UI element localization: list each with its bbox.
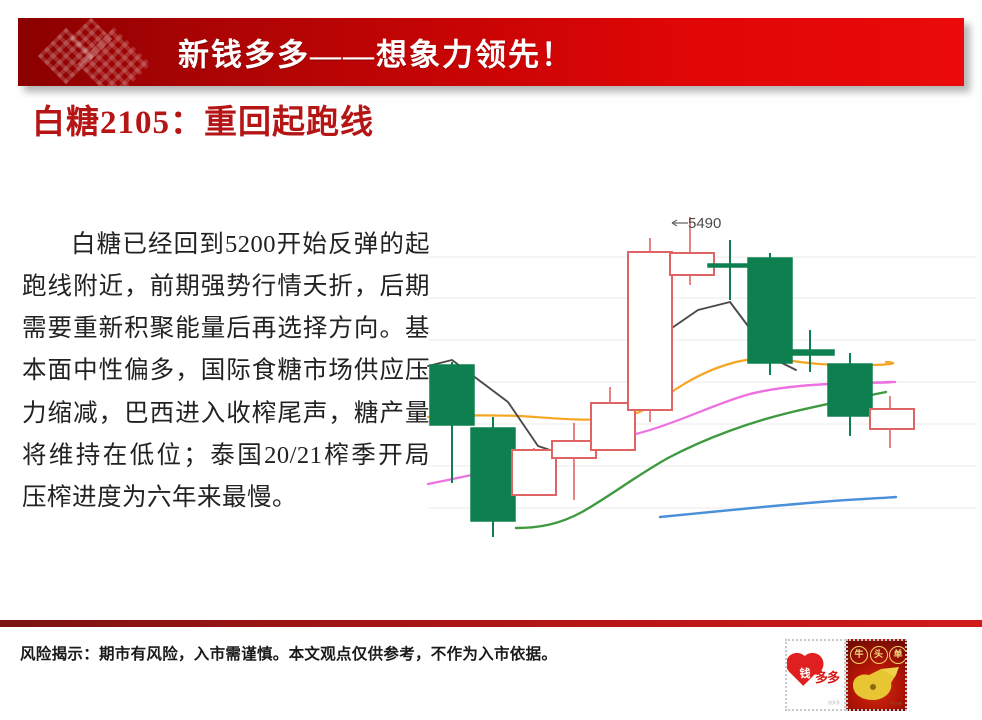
annotation-label: 5490: [688, 215, 721, 232]
stamp-circle-3: 单: [889, 646, 907, 664]
risk-disclaimer: 风险揭示：期市有风险，入市需谨慎。本文观点仅供参考，不作为入市依据。: [20, 642, 720, 664]
stamp-circle-1: 牛: [850, 646, 868, 664]
candle-9: [748, 253, 792, 375]
stamp-left-text: 多多: [815, 667, 839, 686]
stamp-circle-row: 牛 头 单: [850, 646, 907, 664]
candle-3: [512, 448, 556, 495]
stamp-niutoudan: 牛 头 单 牛头单: [846, 639, 907, 711]
chinese-knot-diamond-logo: [40, 22, 160, 84]
stamp-left-mini-text: 钱多多: [828, 700, 840, 706]
candle-1: [430, 362, 474, 483]
footer-logo-stamps: 钱 多多 钱多多 牛 头 单 牛头单: [785, 639, 907, 711]
bull-icon: [851, 667, 905, 703]
candlestick-chart: 5490: [420, 190, 980, 538]
candle-4: [552, 423, 596, 500]
stamp-right-mini-text: 牛头单: [890, 701, 902, 707]
stamp-qianduoduo: 钱 多多 钱多多: [785, 639, 846, 711]
candle-12: [870, 396, 914, 448]
candle-series: [430, 217, 914, 537]
footer-divider: [0, 620, 982, 627]
page-title: 白糖2105：重回起跑线: [32, 100, 432, 148]
stamp-circle-2: 头: [870, 646, 888, 664]
candle-2: [471, 417, 515, 537]
header-banner: 新钱多多——想象力领先！: [18, 18, 964, 86]
candle-6: [628, 238, 672, 422]
price-annotation-5490: 5490: [672, 215, 721, 232]
stamp-heart-char: 钱: [795, 665, 815, 681]
header-title: 新钱多多——想象力领先！: [178, 30, 574, 75]
ma-blue-line: [660, 497, 896, 517]
body-paragraph: 白糖已经回到5200开始反弹的起跑线附近，前期强势行情夭折，后期需要重新积聚能量…: [22, 224, 430, 519]
